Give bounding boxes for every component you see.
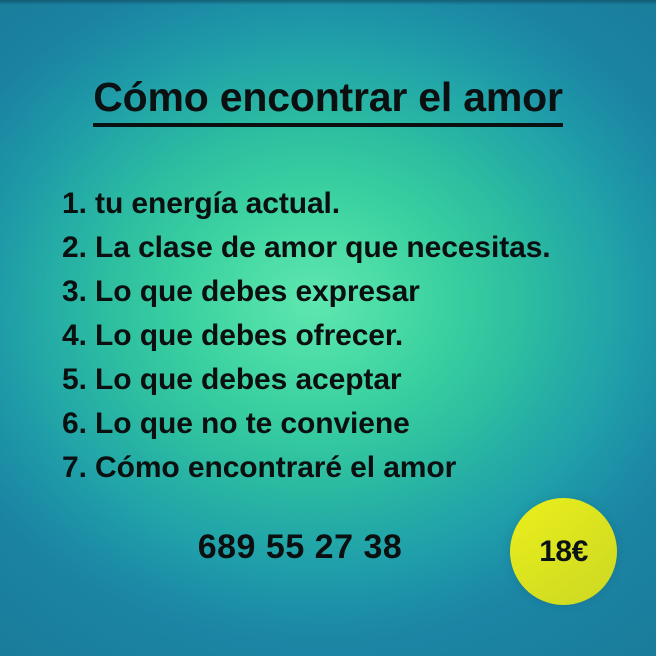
list-item: 2. La clase de amor que necesitas.	[62, 226, 551, 270]
page-title: Cómo encontrar el amor	[0, 76, 656, 127]
list-item: 1. tu energía actual.	[62, 182, 551, 226]
promo-poster: Cómo encontrar el amor 1. tu energía act…	[0, 0, 656, 656]
price-badge-label: 18€	[539, 535, 588, 569]
price-badge: 18€	[510, 498, 617, 605]
page-title-text: Cómo encontrar el amor	[93, 76, 562, 127]
list-item: 3. Lo que debes expresar	[62, 270, 551, 314]
list-item: 4. Lo que debes ofrecer.	[62, 314, 551, 358]
top-edge-band	[0, 0, 656, 5]
list-item: 5. Lo que debes aceptar	[62, 358, 551, 402]
list-item: 7. Cómo encontraré el amor	[62, 446, 551, 490]
list-item: 6. Lo que no te conviene	[62, 402, 551, 446]
reading-topics-list: 1. tu energía actual. 2. La clase de amo…	[62, 182, 551, 490]
